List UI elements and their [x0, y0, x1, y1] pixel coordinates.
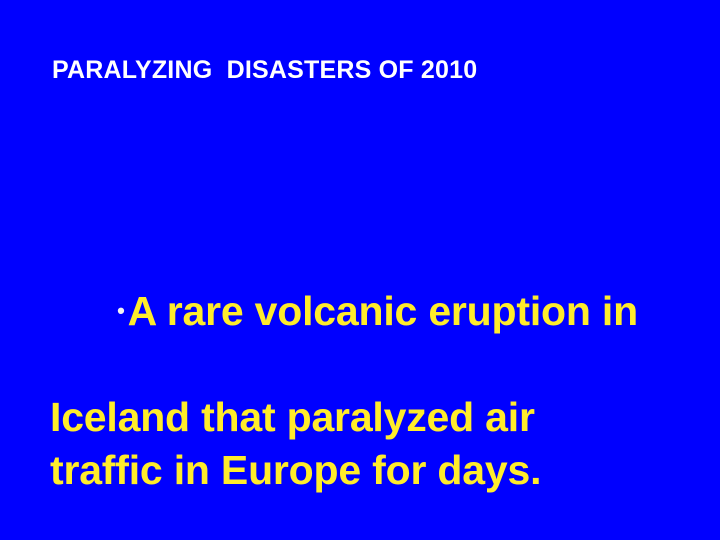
bullet-point-icon: •: [117, 284, 125, 337]
slide-title: PARALYZING DISASTERS OF 2010: [52, 55, 672, 85]
bullet-list-item: •A rare volcanic eruption in: [50, 232, 690, 391]
sentence-period: .: [530, 447, 541, 493]
presentation-slide: PARALYZING DISASTERS OF 2010 •A rare vol…: [0, 0, 720, 540]
body-line-3-wrapper: traffic in Europe for days.: [50, 444, 690, 497]
body-line-2: Iceland that paralyzed air: [50, 391, 690, 444]
body-line-1: A rare volcanic eruption in: [128, 285, 638, 338]
slide-body-text: •A rare volcanic eruption in Iceland tha…: [50, 232, 690, 497]
body-line-3: traffic in Europe for days: [50, 447, 530, 493]
